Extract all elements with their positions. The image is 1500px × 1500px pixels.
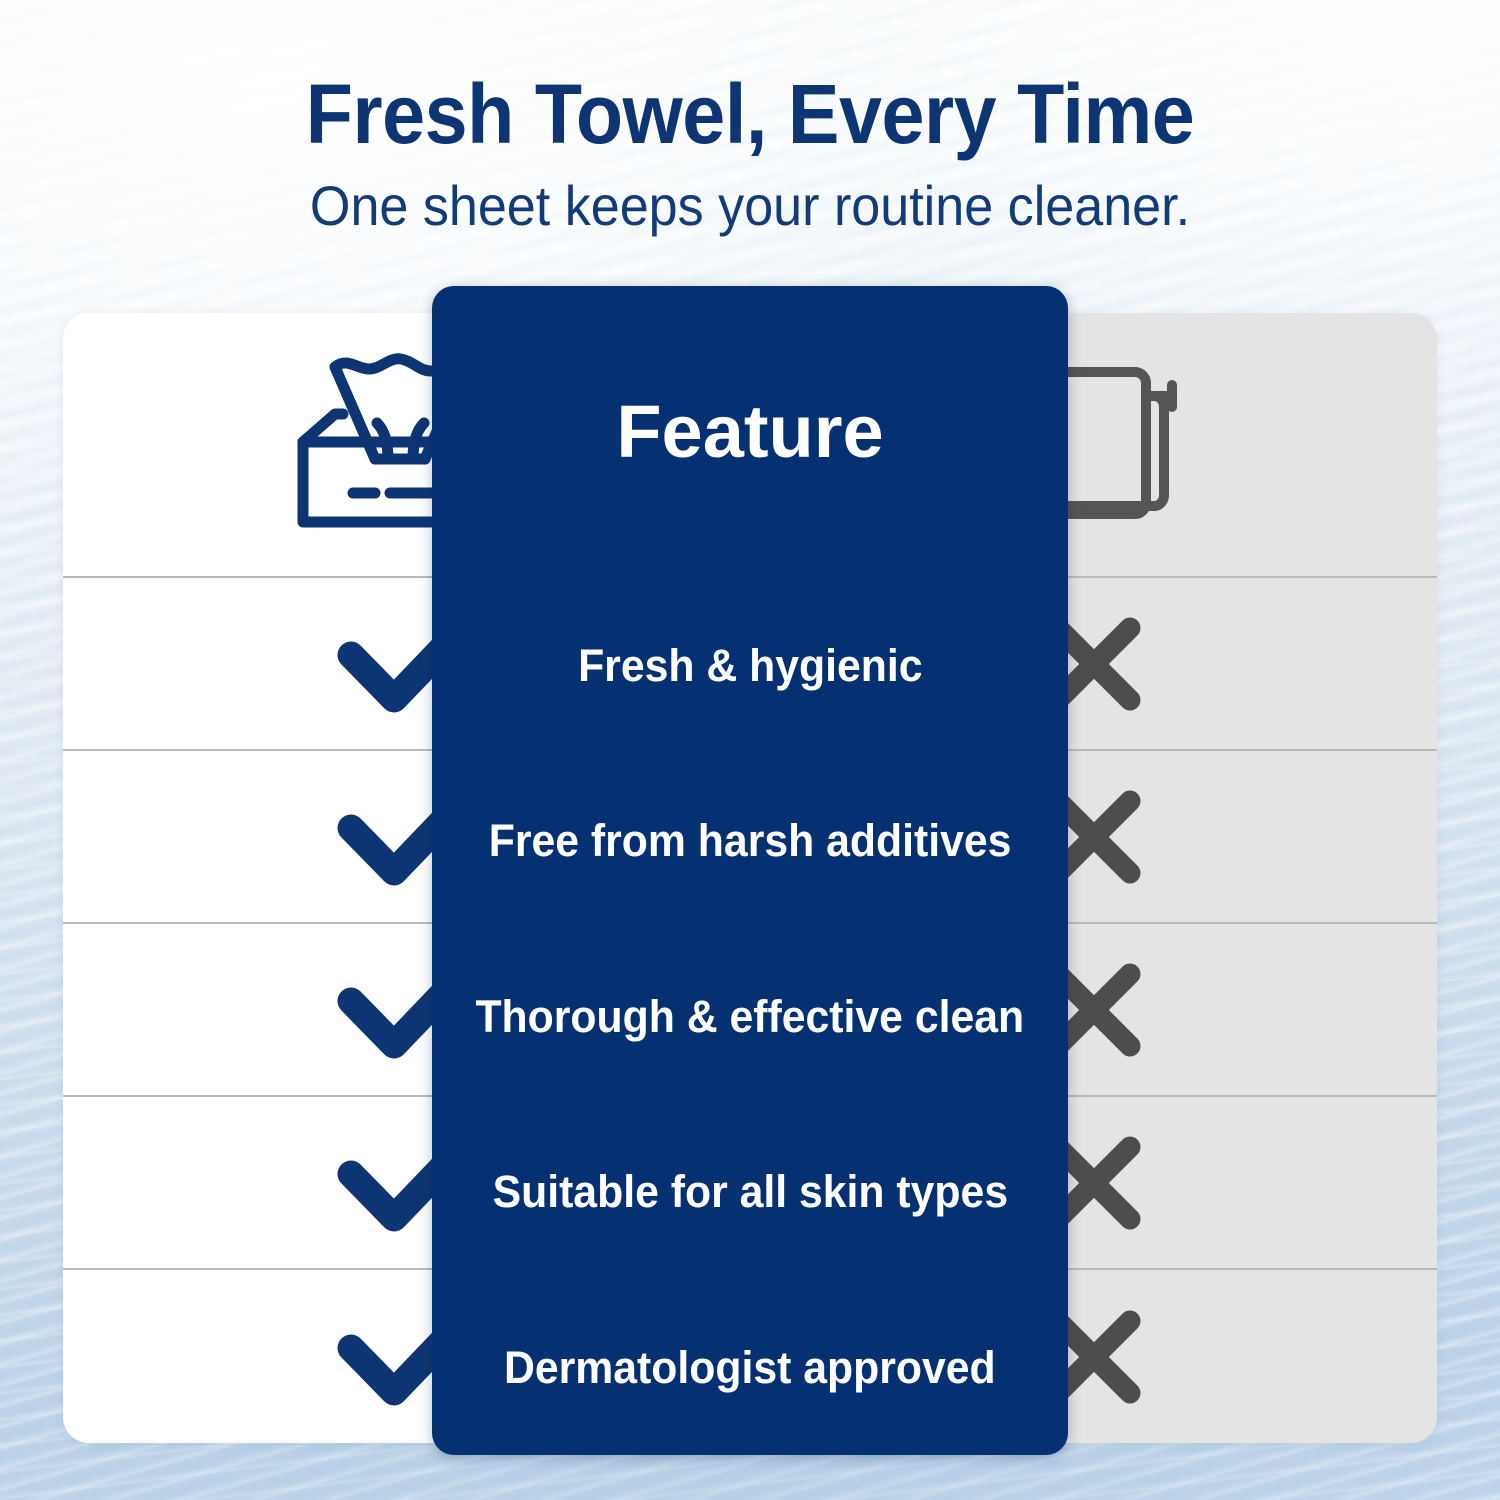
feature-row: Fresh & hygienic [432,578,1068,753]
feature-row: Dermatologist approved [432,1280,1068,1455]
feature-row-label: Suitable for all skin types [492,1168,1008,1215]
feature-panel: Feature Fresh & hygienic Free from harsh… [432,286,1068,1455]
page-title: Fresh Towel, Every Time [60,72,1440,156]
feature-row-label: Fresh & hygienic [578,642,922,689]
feature-row-label: Free from harsh additives [489,817,1012,864]
feature-row: Thorough & effective clean [432,929,1068,1104]
heading-block: Fresh Towel, Every Time One sheet keeps … [0,72,1500,234]
feature-panel-header: Feature [432,286,1068,578]
feature-row-label: Dermatologist approved [504,1344,996,1391]
feature-row: Free from harsh additives [432,753,1068,928]
feature-column-title: Feature [616,395,883,469]
page-subtitle: One sheet keeps your routine cleaner. [53,178,1448,234]
feature-row-label: Thorough & effective clean [476,993,1025,1040]
feature-row: Suitable for all skin types [432,1104,1068,1279]
